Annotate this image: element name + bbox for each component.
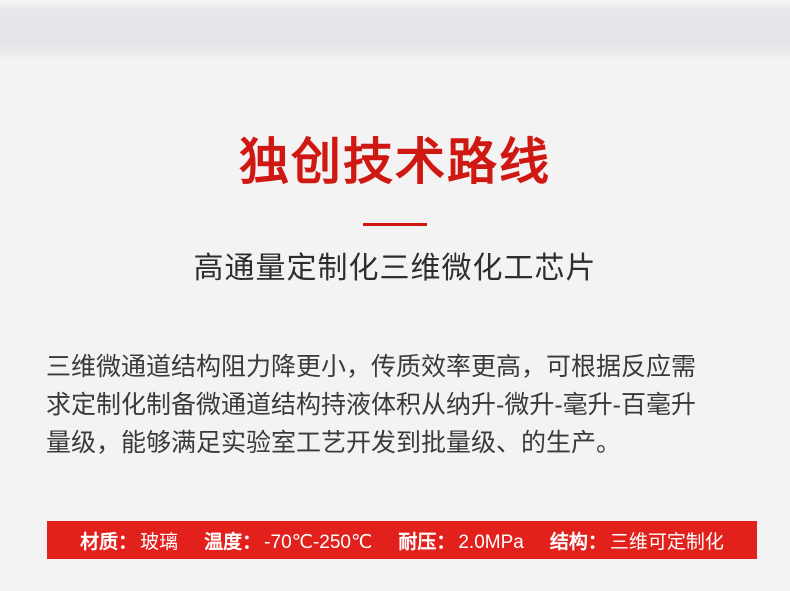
- spec-banner: 材质： 玻璃 温度： -70℃-250℃ 耐压： 2.0MPa 结构： 三维可定…: [47, 521, 757, 559]
- spec-item-material: 材质： 玻璃: [80, 527, 178, 554]
- description-paragraph: 三维微通道结构阻力降更小，传质效率更高，可根据反应需 求定制化制备微通道结构持液…: [46, 348, 746, 462]
- spec-label: 耐压：: [398, 527, 455, 554]
- product-feature-section: 独创技术路线 高通量定制化三维微化工芯片 三维微通道结构阻力降更小，传质效率更高…: [0, 0, 790, 591]
- spec-item-temperature: 温度： -70℃-250℃: [204, 527, 372, 554]
- description-line: 量级，能够满足实验室工艺开发到批量级、的生产。: [46, 424, 746, 462]
- section-content: 独创技术路线 高通量定制化三维微化工芯片 三维微通道结构阻力降更小，传质效率更高…: [0, 60, 790, 591]
- page-title: 独创技术路线: [0, 134, 790, 190]
- spec-label: 温度：: [204, 527, 261, 554]
- spec-label: 结构：: [550, 527, 607, 554]
- top-gradient-band: [0, 0, 790, 60]
- spec-item-pressure: 耐压： 2.0MPa: [398, 527, 524, 554]
- page-subtitle: 高通量定制化三维微化工芯片: [0, 249, 790, 289]
- spec-value: 三维可定制化: [610, 527, 724, 554]
- description-line: 求定制化制备微通道结构持液体积从纳升-微升-毫升-百毫升: [46, 386, 746, 424]
- spec-item-structure: 结构： 三维可定制化: [550, 527, 724, 554]
- description-line: 三维微通道结构阻力降更小，传质效率更高，可根据反应需: [46, 348, 746, 386]
- spec-value: -70℃-250℃: [264, 531, 372, 554]
- title-divider: [363, 223, 427, 226]
- spec-label: 材质：: [80, 527, 137, 554]
- spec-value: 玻璃: [140, 527, 178, 554]
- spec-value: 2.0MPa: [458, 532, 523, 554]
